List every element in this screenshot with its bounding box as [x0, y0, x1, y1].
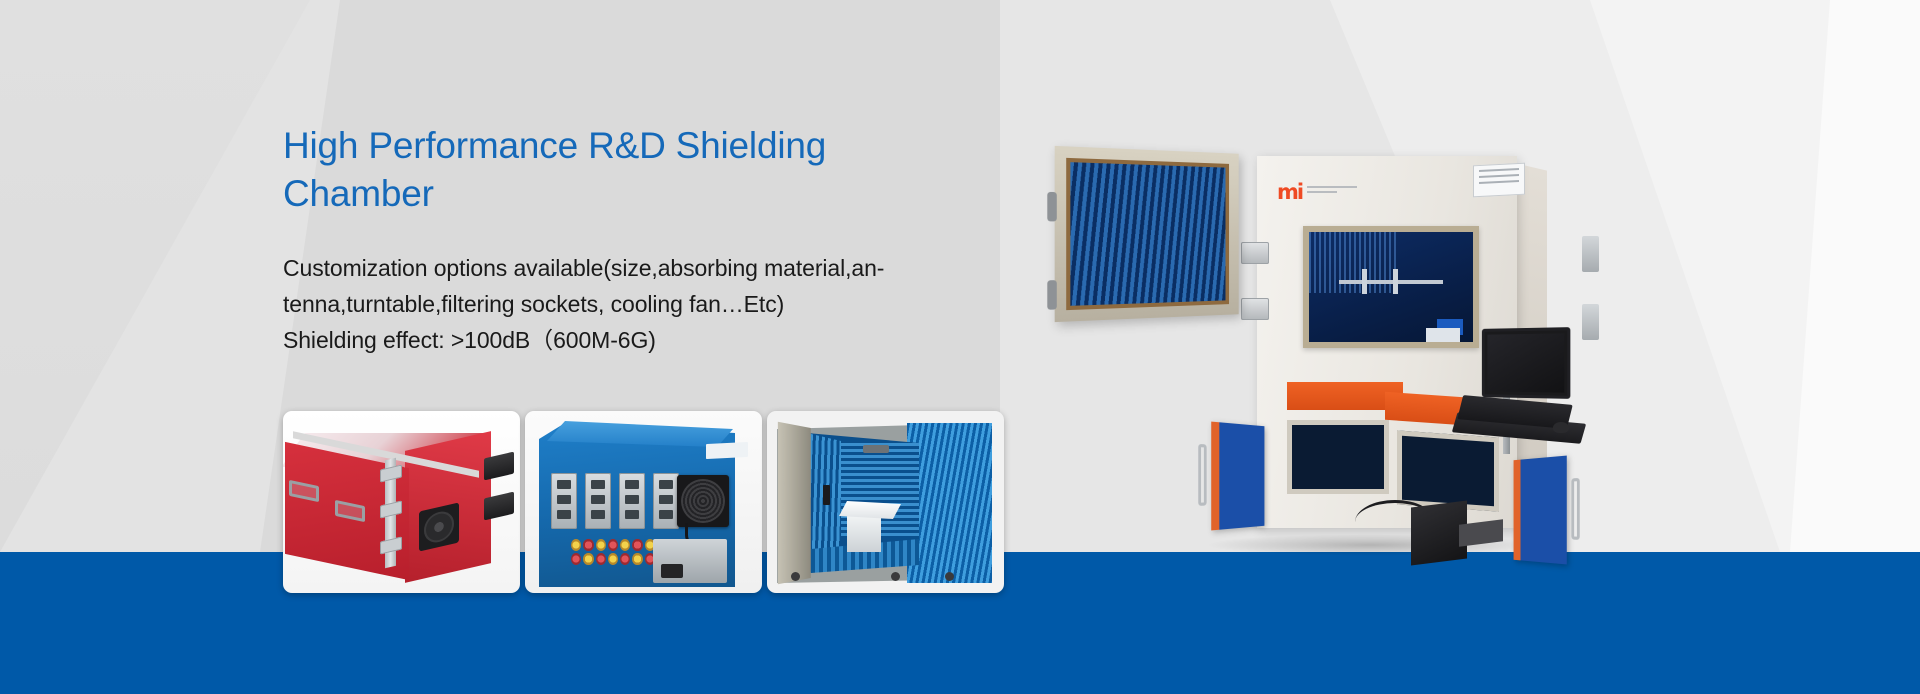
panel-port [591, 495, 605, 504]
blue-box-illustration [525, 411, 762, 593]
chamber-light [863, 445, 889, 453]
panel-port [557, 480, 571, 489]
door-handle [1198, 444, 1206, 506]
panel-port [625, 510, 639, 519]
panel-port [557, 510, 571, 519]
interior-white-object [1426, 328, 1460, 342]
subcopy-line-1: Customization options available(size,abs… [283, 250, 1035, 286]
open-door-blue-absorber [1055, 146, 1239, 322]
sma-connector [632, 553, 642, 565]
rig-mast [1393, 269, 1398, 293]
door-latch [1582, 304, 1599, 340]
lower-compartment-opening [1397, 430, 1499, 511]
rig-bar [1339, 280, 1444, 284]
chamber-antenna [823, 485, 830, 505]
test-table-leg [847, 514, 881, 552]
lower-compartment-opening [1287, 420, 1389, 494]
connector-plate [619, 473, 645, 529]
thumbnail-red-shielding-box[interactable] [283, 411, 520, 593]
equipment-nameplate [1473, 163, 1525, 198]
sma-connector [608, 553, 618, 565]
sma-connector [620, 553, 630, 565]
thumbnail-anechoic-chamber-interior[interactable] [767, 411, 1004, 593]
panel-port [591, 480, 605, 489]
panel-port [625, 480, 639, 489]
blue-box-label [706, 442, 748, 459]
subcopy-line-3: Shielding effect: >100dB（600M-6G) [283, 322, 1035, 358]
lower-open-door-left [1211, 422, 1264, 531]
panel-port [659, 510, 673, 519]
door-hinge [1241, 298, 1269, 320]
sma-connector [596, 553, 606, 565]
thumbnail-gallery [283, 411, 1004, 593]
thumbnail-blue-box-rear-panel[interactable] [525, 411, 762, 593]
sma-connector [632, 539, 642, 551]
sma-connector [596, 539, 606, 551]
viewing-window [1303, 226, 1479, 348]
sma-connector [608, 539, 618, 551]
connector-plate [585, 473, 611, 529]
door-hinge [1047, 280, 1056, 310]
chamber-door-frame [778, 422, 811, 585]
door-handle [1571, 478, 1579, 540]
sma-connector [583, 553, 593, 565]
banner-subcopy: Customization options available(size,abs… [283, 250, 1035, 358]
control-monitor [1482, 327, 1570, 399]
window-glass [1309, 232, 1473, 342]
sma-connector [571, 539, 581, 551]
mouse [1553, 422, 1569, 433]
rig-mast [1362, 269, 1367, 293]
test-table-top [839, 501, 901, 519]
product-banner: High Performance R&D Shielding Chamber C… [0, 0, 1920, 694]
chamber-caster [945, 572, 954, 581]
panel-port [591, 510, 605, 519]
antenna-rig [1339, 269, 1444, 293]
absorber-foam-panel [1066, 158, 1229, 310]
connector-plate [653, 473, 679, 529]
connector-plate [551, 473, 577, 529]
sma-connector [583, 539, 593, 551]
panel-port [557, 495, 571, 504]
chamber-interior-illustration [767, 411, 1004, 593]
sma-connector [571, 553, 581, 565]
door-absorber-foam [907, 423, 992, 583]
lower-open-door-right [1514, 456, 1567, 565]
banner-copy-block: High Performance R&D Shielding Chamber C… [283, 122, 1043, 358]
door-latch [1582, 236, 1599, 272]
panel-port [659, 480, 673, 489]
model-text [1307, 186, 1357, 196]
banner-headline: High Performance R&D Shielding Chamber [283, 122, 893, 218]
chamber-caster [891, 572, 900, 581]
sma-connector-array [571, 539, 655, 565]
shielding-chamber-photo: mi [1055, 132, 1595, 552]
door-hinge [1047, 192, 1056, 222]
blue-box-cooling-fan [677, 475, 729, 527]
panel-port [625, 495, 639, 504]
brand-logo: mi [1277, 180, 1302, 204]
sma-connector [620, 539, 630, 551]
subcopy-line-2: tenna,turntable,filtering sockets, cooli… [283, 286, 1035, 322]
red-box-illustration [283, 411, 520, 593]
power-supply-unit [653, 539, 727, 583]
chamber-caster [791, 572, 800, 581]
door-hinge [1241, 242, 1269, 264]
panel-port [659, 495, 673, 504]
